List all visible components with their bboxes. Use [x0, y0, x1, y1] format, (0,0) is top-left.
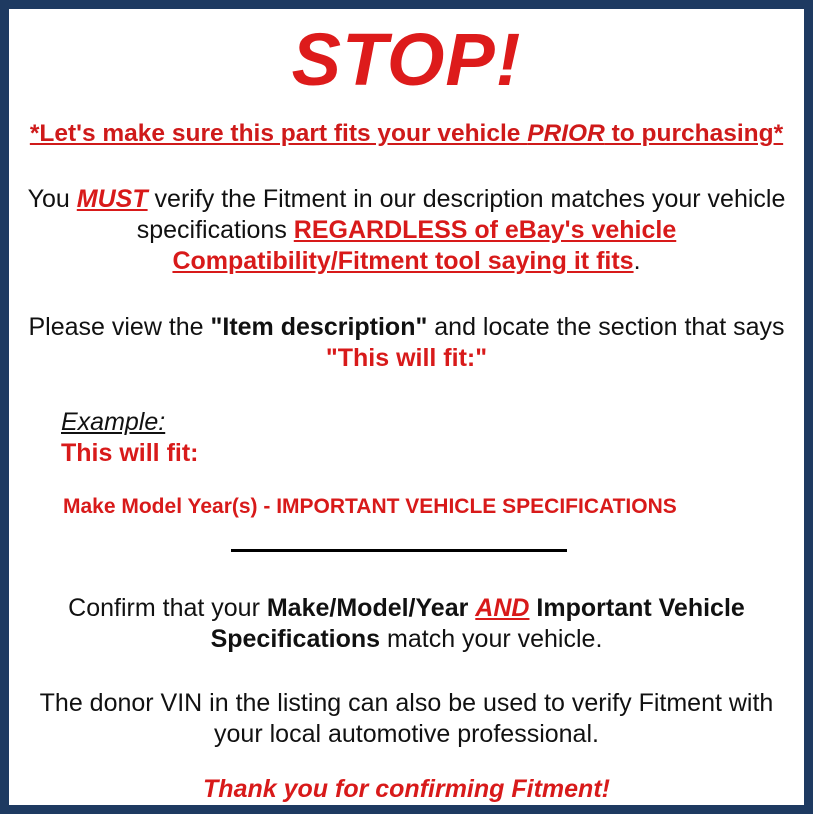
- must-verify-paragraph: You MUST verify the Fitment in our descr…: [9, 147, 804, 277]
- and-emphasis: AND: [475, 594, 529, 622]
- donor-vin-paragraph: The donor VIN in the listing can also be…: [9, 655, 804, 750]
- subheadline-prefix: *Let's make sure this part fits your veh…: [30, 120, 527, 147]
- view-text-part-1: Please view the: [28, 313, 210, 341]
- example-spec-line: Make Model Year(s) - IMPORTANT VEHICLE S…: [61, 495, 804, 519]
- thank-you-message: Thank you for confirming Fitment!: [9, 750, 804, 803]
- make-model-year-label: Make/Model/Year: [267, 594, 468, 622]
- subheadline: *Let's make sure this part fits your veh…: [9, 97, 804, 147]
- notice-inner-content: STOP! *Let's make sure this part fits yo…: [9, 9, 804, 805]
- confirm-paragraph: Confirm that your Make/Model/Year AND Im…: [9, 563, 804, 655]
- divider-rule: [231, 549, 567, 552]
- example-section: Example: This will fit: Make Model Year(…: [9, 374, 804, 519]
- must-emphasis: MUST: [77, 185, 148, 213]
- must-text-part-3: .: [634, 247, 641, 275]
- item-description-label: "Item description": [211, 313, 428, 341]
- item-description-paragraph: Please view the "Item description" and l…: [9, 277, 804, 374]
- confirm-text-part-2: match your vehicle.: [380, 625, 602, 653]
- confirm-text-part-1: Confirm that your: [68, 594, 267, 622]
- subheadline-emphasis-prior: PRIOR: [527, 120, 605, 147]
- example-fit-header: This will fit:: [61, 438, 804, 468]
- this-will-fit-quote: "This will fit:": [326, 344, 487, 372]
- subheadline-suffix: to purchasing*: [605, 120, 783, 147]
- divider: [9, 519, 804, 563]
- view-text-part-2: and locate the section that says: [427, 313, 784, 341]
- must-text-part-1: You: [28, 185, 77, 213]
- example-label: Example:: [61, 408, 165, 436]
- example-label-row: Example:: [61, 408, 804, 436]
- page-title: STOP!: [9, 9, 804, 97]
- fitment-notice-card: STOP! *Let's make sure this part fits yo…: [9, 9, 804, 805]
